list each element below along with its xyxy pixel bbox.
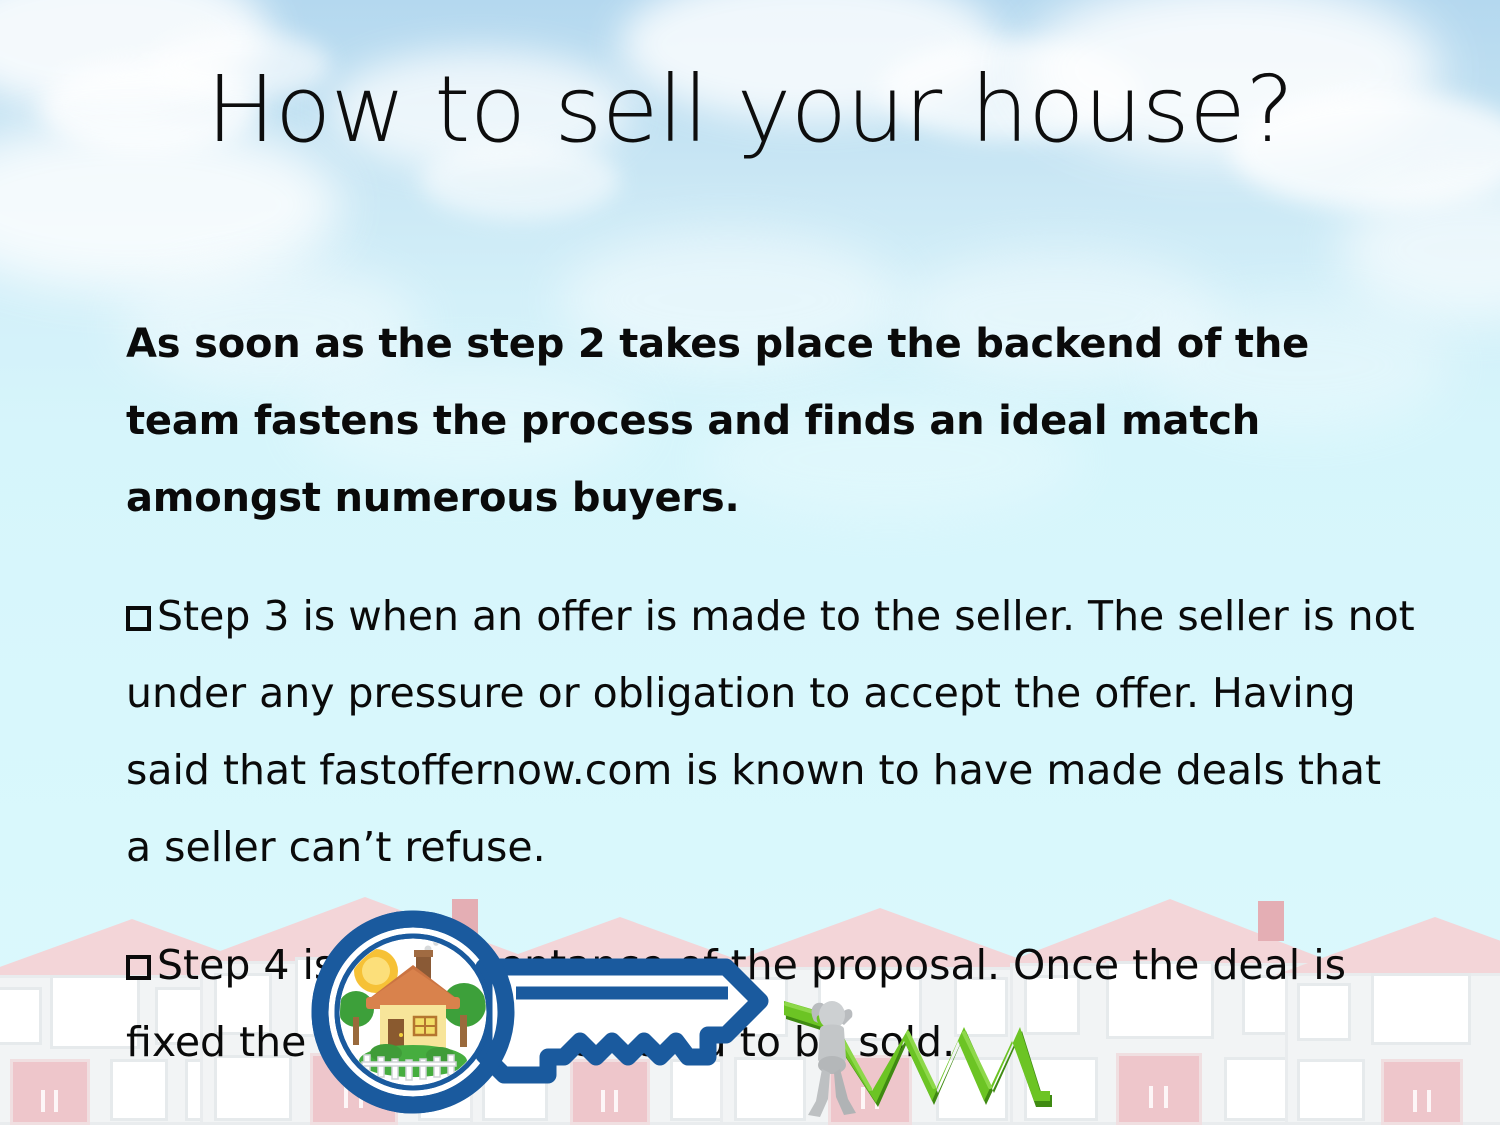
bullet-item: Step 3 is when an offer is made to the s… [126, 578, 1416, 886]
rising-green-ribbon-chart-icon [778, 975, 1068, 1125]
hollow-square-bullet-icon [126, 955, 151, 980]
slide-title: How to sell your house? [0, 62, 1500, 159]
presentation-slide: How to sell your house? As soon as the s… [0, 0, 1500, 1125]
house-key-icon [308, 905, 778, 1120]
bullet-text: Step 3 is when an offer is made to the s… [126, 592, 1415, 871]
intro-paragraph: As soon as the step 2 takes place the ba… [126, 306, 1416, 537]
hollow-square-bullet-icon [126, 606, 151, 631]
